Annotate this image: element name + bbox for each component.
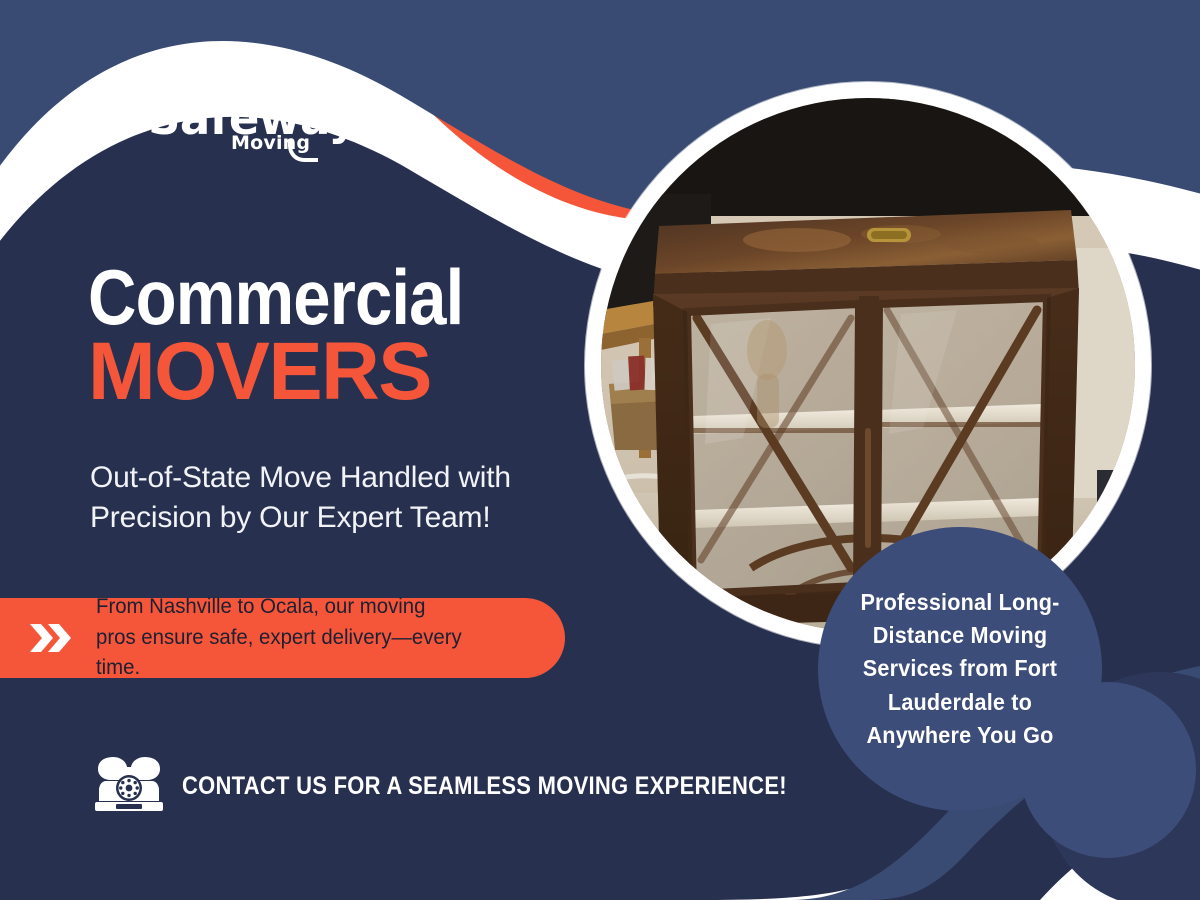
logo-swash-icon — [288, 140, 318, 162]
photo-circle — [601, 98, 1135, 632]
headline-line-1: Commercial — [88, 262, 463, 334]
cta-banner[interactable]: From Nashville to Ocala, our moving pros… — [0, 598, 565, 678]
headline-line-2: MOVERS — [88, 330, 520, 414]
badge-text: Professional Long-Distance Moving Servic… — [841, 586, 1078, 753]
brand-logo[interactable]: Safeway Moving — [148, 96, 357, 141]
cabinet-photo — [601, 98, 1135, 632]
subheadline: Out-of-State Move Handled with Precision… — [90, 458, 520, 538]
marketing-poster: Professional Long-Distance Moving Servic… — [0, 0, 1200, 900]
double-chevron-right-icon — [28, 621, 74, 655]
contact-text: CONTACT US FOR A SEAMLESS MOVING EXPERIE… — [182, 772, 787, 801]
rotary-telephone-icon — [92, 755, 166, 818]
contact-row[interactable]: CONTACT US FOR A SEAMLESS MOVING EXPERIE… — [92, 755, 869, 818]
headline-block: Commercial MOVERS — [88, 262, 525, 413]
cta-banner-text: From Nashville to Ocala, our moving pros… — [96, 592, 467, 683]
